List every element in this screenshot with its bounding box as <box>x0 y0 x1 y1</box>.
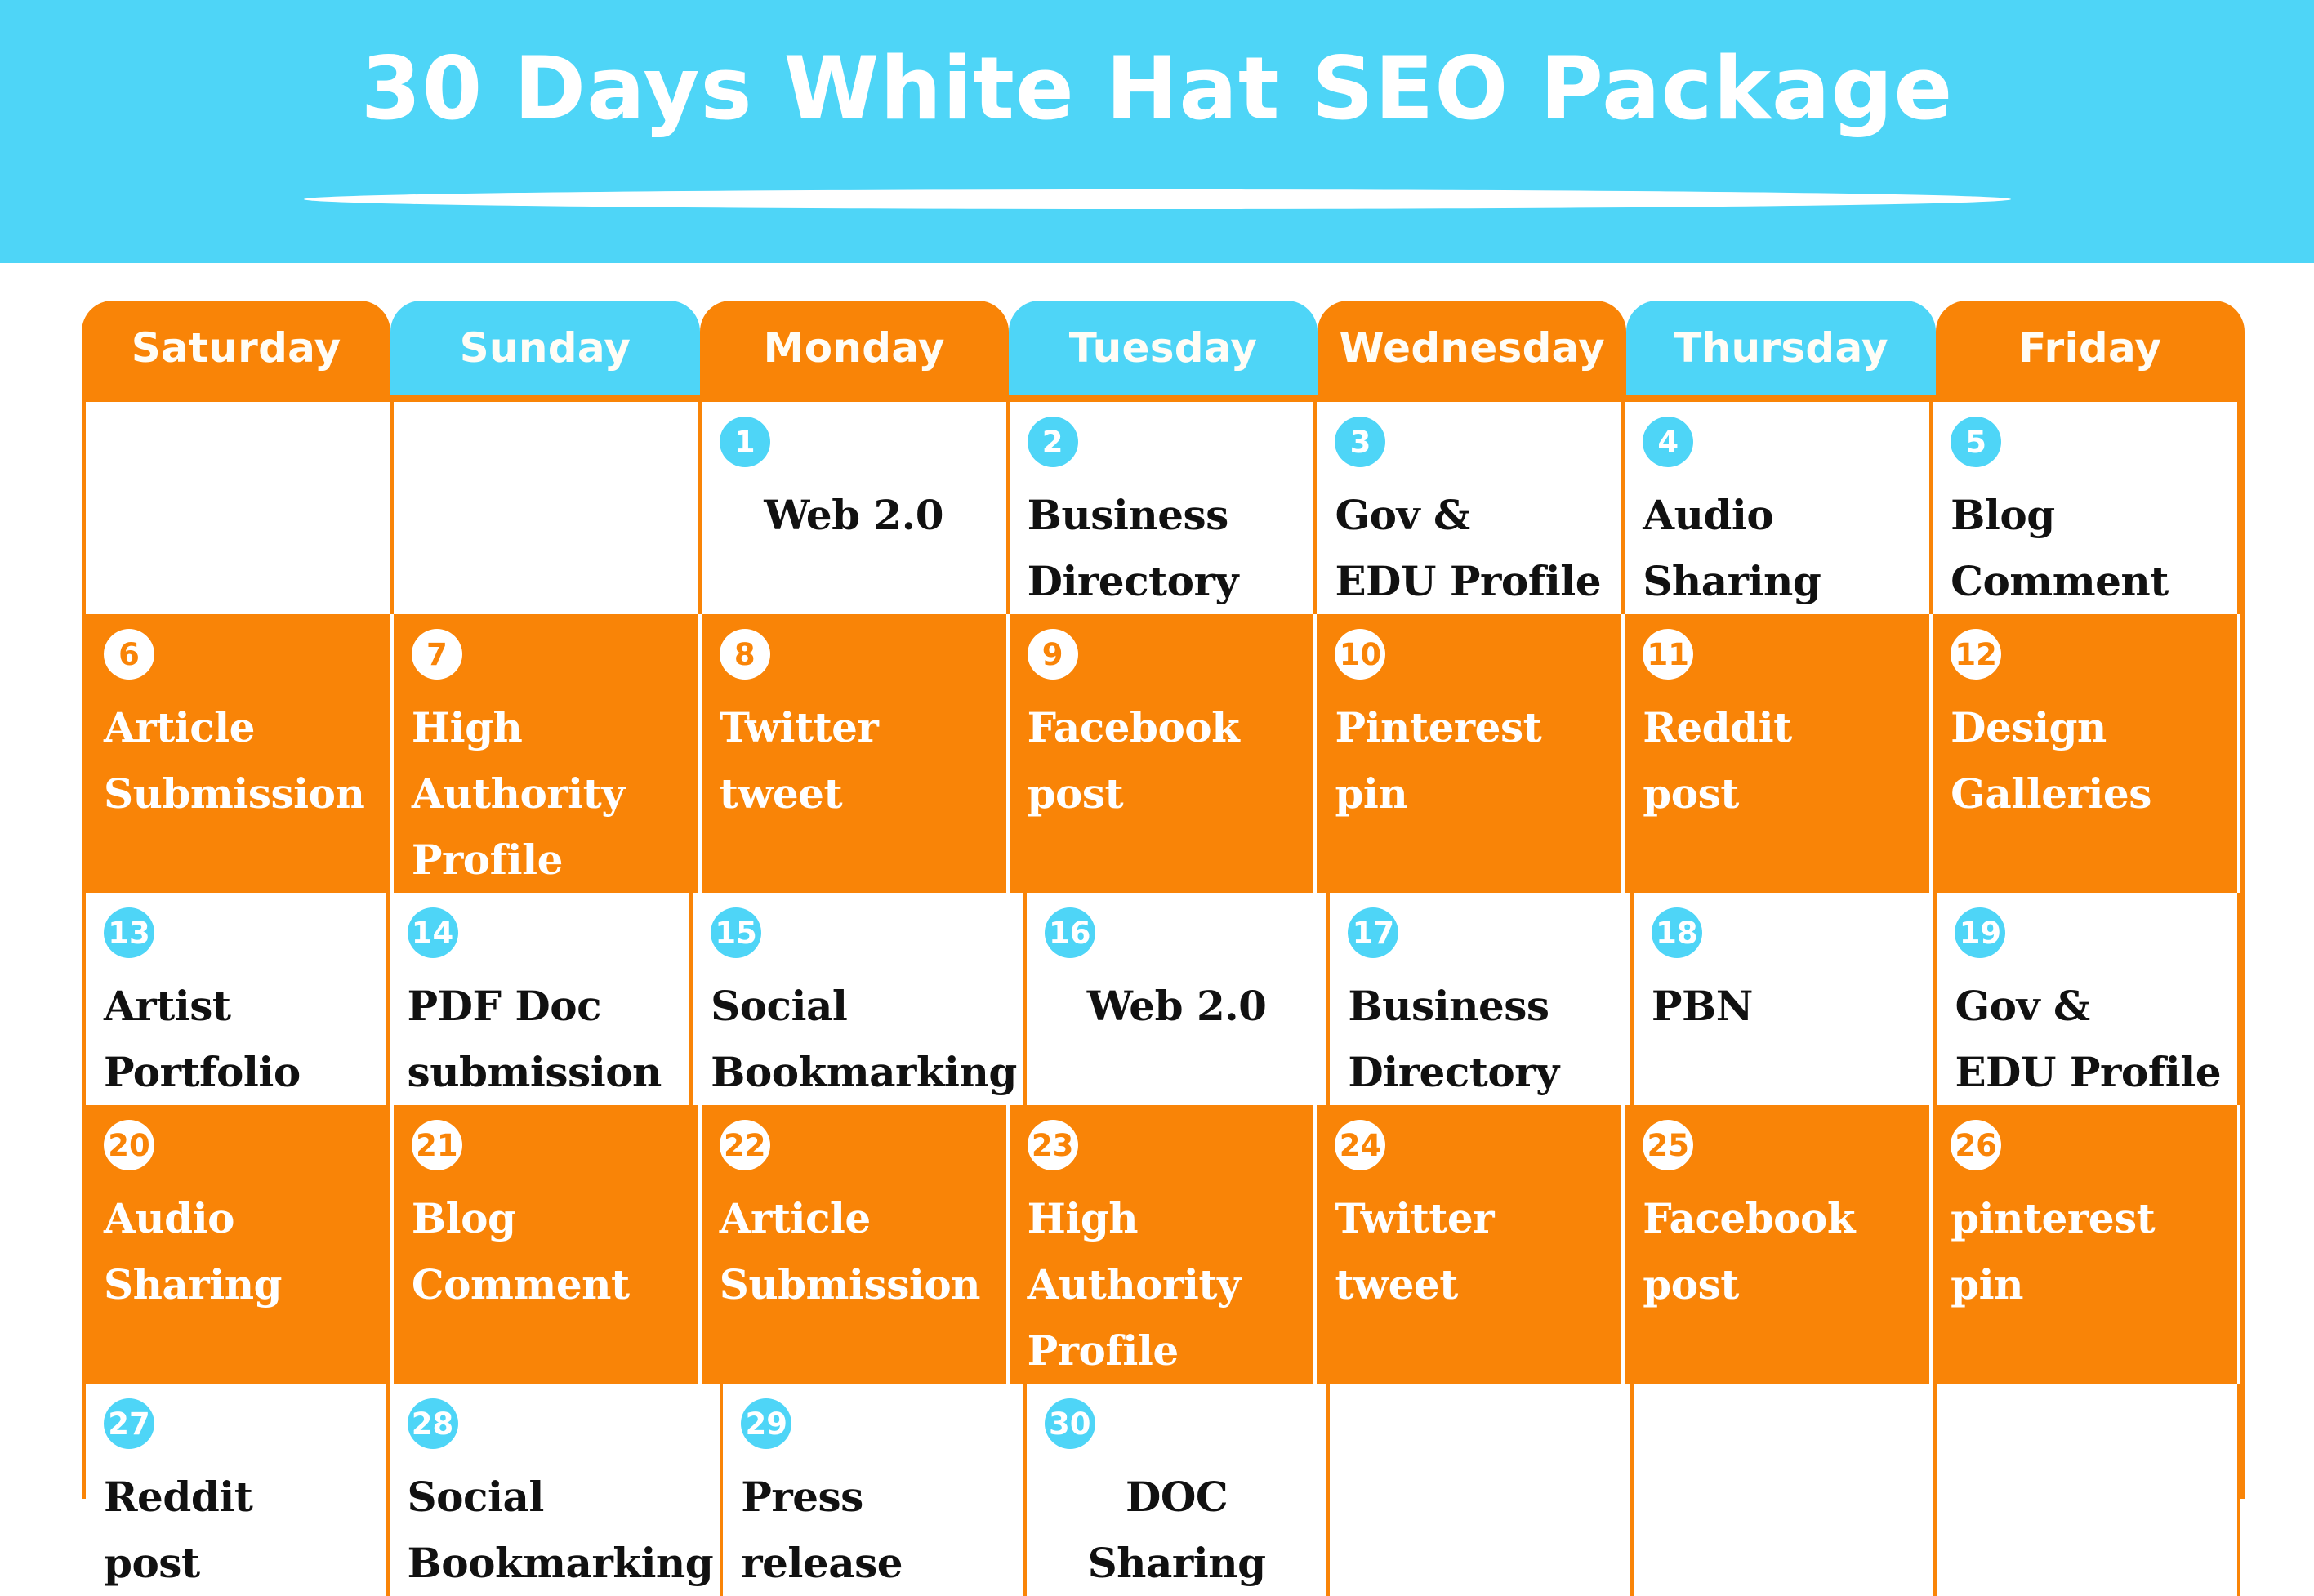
day-task-line: post <box>1028 760 1308 827</box>
day-task-line: Blog <box>412 1185 692 1251</box>
day-task-line: Bookmarking <box>408 1530 714 1596</box>
calendar-day-cell-8[interactable]: 8Twittertweet <box>702 614 1010 893</box>
calendar-day-cell-17[interactable]: 17BusinessDirectory <box>1330 893 1634 1105</box>
day-task-line: Bookmarking <box>711 1039 1017 1105</box>
day-task-line: post <box>1643 1251 1923 1317</box>
day-task-line: Submission <box>720 1251 1000 1317</box>
day-task-line: Reddit <box>1643 694 1923 760</box>
day-task-line: Social <box>408 1464 714 1530</box>
day-number-badge: 5 <box>1951 417 2001 467</box>
calendar-day-cell-26[interactable]: 26pinterestpin <box>1933 1105 2240 1384</box>
day-task-label: Gov &EDU Profile <box>1955 973 2237 1105</box>
day-task-label: SocialBookmarking <box>408 1464 720 1596</box>
day-task-line: PDF Doc <box>408 973 684 1039</box>
calendar-day-cell-2[interactable]: 2BusinessDirectory <box>1010 402 1318 614</box>
calendar-day-cell-19[interactable]: 19Gov &EDU Profile <box>1937 893 2240 1105</box>
day-task-line: Comment <box>412 1251 692 1317</box>
calendar-day-cell-12[interactable]: 12DesignGalleries <box>1933 614 2240 893</box>
day-task-label: Pressrelease <box>741 1464 1023 1596</box>
day-task-line: Web 2.0 <box>720 482 988 548</box>
day-task-line: Audio <box>1643 482 1923 548</box>
day-number-badge: 2 <box>1028 417 1078 467</box>
day-number-badge: 26 <box>1951 1120 2001 1170</box>
day-task-line: Twitter <box>720 694 1000 760</box>
day-task-label: High AuthorityProfile <box>412 694 698 893</box>
day-task-label: Twittertweet <box>1335 1185 1621 1317</box>
calendar-day-cell-21[interactable]: 21BlogComment <box>394 1105 702 1384</box>
day-task-line: EDU Profile <box>1335 548 1615 614</box>
calendar-week-row: 20AudioSharing21BlogComment22ArticleSubm… <box>86 1105 2240 1384</box>
day-task-label: SocialBookmarking <box>711 973 1023 1105</box>
day-number-badge: 30 <box>1045 1398 1095 1449</box>
calendar-day-cell-24[interactable]: 24Twittertweet <box>1317 1105 1625 1384</box>
day-number-badge: 19 <box>1955 907 2005 958</box>
calendar-day-cell-empty <box>1937 1384 2240 1596</box>
day-task-line: High Authority <box>1028 1185 1308 1317</box>
day-task-label: ArticleSubmission <box>104 694 390 827</box>
day-number-badge: 8 <box>720 629 770 680</box>
day-task-line: Design <box>1951 694 2231 760</box>
day-number-badge: 9 <box>1028 629 1078 680</box>
day-task-label: ArtistPortfolio <box>104 973 386 1105</box>
day-task-label: Web 2.0 <box>720 482 1006 548</box>
day-task-line: Twitter <box>1335 1185 1615 1251</box>
day-number-badge: 7 <box>412 629 462 680</box>
day-header-tab-saturday[interactable]: Saturday <box>82 301 390 395</box>
day-task-label: DOC Sharing <box>1045 1464 1327 1596</box>
day-number-badge: 18 <box>1652 907 1702 958</box>
day-number-badge: 20 <box>104 1120 154 1170</box>
day-task-line: DOC Sharing <box>1045 1464 1309 1596</box>
day-task-line: Business <box>1348 973 1624 1039</box>
calendar-day-cell-empty <box>394 402 702 614</box>
day-header-cell: Tuesday <box>1009 301 1318 395</box>
calendar-day-cell-3[interactable]: 3Gov &EDU Profile <box>1317 402 1625 614</box>
day-number-badge: 1 <box>720 417 770 467</box>
calendar-day-cell-22[interactable]: 22ArticleSubmission <box>702 1105 1010 1384</box>
day-of-week-header-row: SaturdaySundayMondayTuesdayWednesdayThur… <box>82 301 2245 395</box>
day-number-badge: 25 <box>1643 1120 1693 1170</box>
calendar-day-cell-empty <box>1330 1384 1634 1596</box>
day-task-line: Facebook <box>1643 1185 1923 1251</box>
calendar-week-row: 6ArticleSubmission7High AuthorityProfile… <box>86 614 2240 893</box>
day-task-label: High AuthorityProfile <box>1028 1185 1314 1384</box>
calendar-day-cell-5[interactable]: 5BlogComment <box>1933 402 2240 614</box>
calendar-day-cell-empty <box>86 402 394 614</box>
calendar-day-cell-13[interactable]: 13ArtistPortfolio <box>86 893 390 1105</box>
day-task-line: Galleries <box>1951 760 2231 827</box>
day-task-line: Audio <box>104 1185 384 1251</box>
calendar-day-cell-14[interactable]: 14PDF Docsubmission <box>390 893 693 1105</box>
calendar-day-cell-empty <box>1634 1384 1937 1596</box>
day-number-badge: 22 <box>720 1120 770 1170</box>
page-banner: 30 Days White Hat SEO Package <box>0 0 2314 263</box>
calendar-week-row: 13ArtistPortfolio14PDF Docsubmission15So… <box>86 893 2240 1105</box>
day-task-label: DesignGalleries <box>1951 694 2237 827</box>
day-task-line: post <box>104 1530 380 1596</box>
day-task-label: BusinessDirectory <box>1348 973 1630 1105</box>
day-task-line: pin <box>1951 1251 2231 1317</box>
calendar-day-cell-4[interactable]: 4AudioSharing <box>1625 402 1933 614</box>
day-task-line: Gov & <box>1335 482 1615 548</box>
banner-divider-swoosh <box>304 189 2011 209</box>
day-header-tab-sunday[interactable]: Sunday <box>390 301 699 395</box>
day-task-label: Twittertweet <box>720 694 1006 827</box>
day-header-cell: Saturday <box>82 301 390 395</box>
day-header-cell: Thursday <box>1626 301 1935 395</box>
day-task-line: Gov & <box>1955 973 2231 1039</box>
calendar-day-cell-30[interactable]: 30DOC Sharing <box>1027 1384 1331 1596</box>
day-task-line: tweet <box>720 760 1000 827</box>
calendar-day-cell-23[interactable]: 23High AuthorityProfile <box>1010 1105 1318 1384</box>
seo-calendar: SaturdaySundayMondayTuesdayWednesdayThur… <box>82 301 2245 1501</box>
day-task-label: AudioSharing <box>1643 482 1929 614</box>
day-task-label: BusinessDirectory <box>1028 482 1314 614</box>
calendar-day-cell-29[interactable]: 29Pressrelease <box>723 1384 1027 1596</box>
calendar-day-cell-27[interactable]: 27Redditpost <box>86 1384 390 1596</box>
calendar-day-cell-6[interactable]: 6ArticleSubmission <box>86 614 394 893</box>
day-task-line: Portfolio <box>104 1039 380 1105</box>
calendar-day-cell-18[interactable]: 18PBN <box>1634 893 1937 1105</box>
day-task-label: Facebookpost <box>1643 1185 1929 1317</box>
day-task-line: release <box>741 1530 1017 1596</box>
day-number-badge: 3 <box>1335 417 1385 467</box>
day-header-tab-friday[interactable]: Friday <box>1936 301 2245 395</box>
calendar-day-cell-28[interactable]: 28SocialBookmarking <box>390 1384 724 1596</box>
day-task-line: Profile <box>412 827 692 893</box>
day-task-label: BlogComment <box>412 1185 698 1317</box>
day-header-tab-wednesday[interactable]: Wednesday <box>1318 301 1626 395</box>
calendar-week-row: 1Web 2.02BusinessDirectory3Gov &EDU Prof… <box>86 402 2240 614</box>
day-task-line: Profile <box>1028 1317 1308 1384</box>
day-header-tab-monday[interactable]: Monday <box>700 301 1009 395</box>
day-header-tab-tuesday[interactable]: Tuesday <box>1009 301 1318 395</box>
day-number-badge: 23 <box>1028 1120 1078 1170</box>
day-task-line: Comment <box>1951 548 2231 614</box>
day-task-label: pinterestpin <box>1951 1185 2237 1317</box>
day-task-label: PBN <box>1652 973 1934 1039</box>
day-task-line: Article <box>104 694 384 760</box>
calendar-day-cell-16[interactable]: 16Web 2.0 <box>1027 893 1331 1105</box>
day-header-cell: Friday <box>1936 301 2245 395</box>
day-task-label: ArticleSubmission <box>720 1185 1006 1317</box>
calendar-day-cell-10[interactable]: 10Pinterestpin <box>1317 614 1625 893</box>
day-task-label: BlogComment <box>1951 482 2237 614</box>
day-task-line: Artist <box>104 973 380 1039</box>
day-task-line: pin <box>1335 760 1615 827</box>
day-number-badge: 27 <box>104 1398 154 1449</box>
day-task-line: Facebook <box>1028 694 1308 760</box>
day-number-badge: 28 <box>408 1398 458 1449</box>
day-task-line: Sharing <box>1643 548 1923 614</box>
day-task-line: EDU Profile <box>1955 1039 2231 1105</box>
day-number-badge: 15 <box>711 907 761 958</box>
day-number-badge: 13 <box>104 907 154 958</box>
day-number-badge: 16 <box>1045 907 1095 958</box>
day-task-line: High Authority <box>412 694 692 827</box>
calendar-day-cell-20[interactable]: 20AudioSharing <box>86 1105 394 1384</box>
day-number-badge: 12 <box>1951 629 2001 680</box>
day-header-tab-thursday[interactable]: Thursday <box>1626 301 1935 395</box>
day-task-line: Social <box>711 973 1017 1039</box>
day-task-line: Pinterest <box>1335 694 1615 760</box>
day-number-badge: 21 <box>412 1120 462 1170</box>
page-title: 30 Days White Hat SEO Package <box>0 42 2314 136</box>
calendar-day-cell-11[interactable]: 11Redditpost <box>1625 614 1933 893</box>
day-header-cell: Monday <box>700 301 1009 395</box>
day-task-line: Web 2.0 <box>1045 973 1309 1039</box>
day-task-line: Press <box>741 1464 1017 1530</box>
day-task-line: Article <box>720 1185 1000 1251</box>
day-task-line: Reddit <box>104 1464 380 1530</box>
day-number-badge: 4 <box>1643 417 1693 467</box>
day-task-line: Submission <box>104 760 384 827</box>
day-task-line: tweet <box>1335 1251 1615 1317</box>
calendar-grid: 1Web 2.02BusinessDirectory3Gov &EDU Prof… <box>82 395 2245 1499</box>
day-header-cell: Wednesday <box>1318 301 1626 395</box>
day-number-badge: 10 <box>1335 629 1385 680</box>
day-task-label: Redditpost <box>104 1464 386 1596</box>
day-task-label: AudioSharing <box>104 1185 390 1317</box>
calendar-week-row: 27Redditpost28SocialBookmarking29Pressre… <box>86 1384 2240 1596</box>
day-task-line: Directory <box>1348 1039 1624 1105</box>
day-task-label: Redditpost <box>1643 694 1929 827</box>
day-task-label: Facebookpost <box>1028 694 1314 827</box>
day-header-cell: Sunday <box>390 301 699 395</box>
day-task-label: Web 2.0 <box>1045 973 1327 1039</box>
day-task-line: submission <box>408 1039 684 1105</box>
calendar-day-cell-7[interactable]: 7High AuthorityProfile <box>394 614 702 893</box>
day-task-line: Business <box>1028 482 1308 548</box>
day-task-line: post <box>1643 760 1923 827</box>
day-task-line: PBN <box>1652 973 1928 1039</box>
day-task-line: Directory <box>1028 548 1308 614</box>
calendar-day-cell-9[interactable]: 9Facebookpost <box>1010 614 1318 893</box>
day-task-line: Sharing <box>104 1251 384 1317</box>
day-number-badge: 29 <box>741 1398 791 1449</box>
calendar-day-cell-1[interactable]: 1Web 2.0 <box>702 402 1010 614</box>
day-number-badge: 6 <box>104 629 154 680</box>
day-number-badge: 11 <box>1643 629 1693 680</box>
day-task-label: Pinterestpin <box>1335 694 1621 827</box>
day-task-line: Blog <box>1951 482 2231 548</box>
calendar-day-cell-25[interactable]: 25Facebookpost <box>1625 1105 1933 1384</box>
day-task-label: Gov &EDU Profile <box>1335 482 1621 614</box>
day-number-badge: 24 <box>1335 1120 1385 1170</box>
calendar-day-cell-15[interactable]: 15SocialBookmarking <box>693 893 1027 1105</box>
day-number-badge: 17 <box>1348 907 1398 958</box>
day-task-line: pinterest <box>1951 1185 2231 1251</box>
day-task-label: PDF Docsubmission <box>408 973 690 1105</box>
day-number-badge: 14 <box>408 907 458 958</box>
